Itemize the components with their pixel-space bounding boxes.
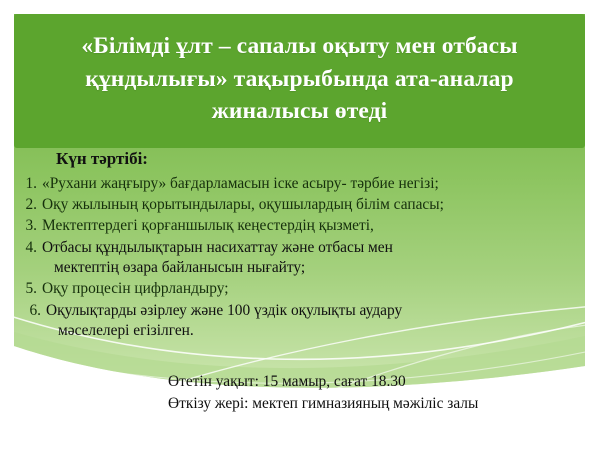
list-item: 4. Отбасы құндылықтарын насихаттау және … <box>20 238 575 279</box>
slide-canvas: «Білімді ұлт – сапалы оқыту мен отбасы қ… <box>0 0 600 450</box>
list-item-line2: мектептің өзара байланысын нығайту; <box>42 258 575 278</box>
list-item-text: «Рухани жаңғыру» бағдарламасын іске асыр… <box>42 174 575 194</box>
list-item: 5. Оқу процесін цифрландыру; <box>20 279 575 299</box>
list-item-line1: Оқулықтарды әзірлеу және 100 үздік оқулы… <box>46 302 402 319</box>
list-item-text: Отбасы құндылықтарын насихаттау және отб… <box>42 238 575 279</box>
list-item-text: Оқулықтарды әзірлеу және 100 үздік оқулы… <box>46 301 575 342</box>
page-title: «Білімді ұлт – сапалы оқыту мен отбасы қ… <box>34 30 565 127</box>
event-time: Өтетін уақыт: 15 мамыр, сағат 18.30 <box>168 371 478 393</box>
list-item-text: Оқу жылының қорытындылары, оқушылардың б… <box>42 195 575 215</box>
agenda-list: 1. «Рухани жаңғыру» бағдарламасын іске а… <box>20 174 575 342</box>
list-item: 2. Оқу жылының қорытындылары, оқушыларды… <box>20 195 575 215</box>
list-item-number: 5. <box>20 279 42 299</box>
agenda-heading: Күн тәртібі: <box>56 150 575 169</box>
list-item: 1. «Рухани жаңғыру» бағдарламасын іске а… <box>20 174 575 194</box>
list-item-line2: мәселелері егізілген. <box>46 321 575 341</box>
list-item-number: 1. <box>20 174 42 194</box>
list-item-line1: Отбасы құндылықтарын насихаттау және отб… <box>42 239 393 256</box>
event-place: Өткізу жері: мектеп гимназияның мәжіліс … <box>168 393 478 415</box>
list-item-number: 6. <box>20 301 46 321</box>
list-item: 3. Мектептердегі қорғаншылық кеңестердің… <box>20 216 575 236</box>
agenda-section: Күн тәртібі: 1. «Рухани жаңғыру» бағдарл… <box>14 150 585 342</box>
list-item-text: Мектептердегі қорғаншылық кеңестердің қы… <box>42 216 575 236</box>
list-item-number: 3. <box>20 216 42 236</box>
list-item-text: Оқу процесін цифрландыру; <box>42 279 575 299</box>
title-banner: «Білімді ұлт – сапалы оқыту мен отбасы қ… <box>14 14 585 148</box>
list-item-number: 2. <box>20 195 42 215</box>
event-details: Өтетін уақыт: 15 мамыр, сағат 18.30 Өткі… <box>168 371 478 416</box>
list-item-number: 4. <box>20 238 42 258</box>
list-item: 6. Оқулықтарды әзірлеу және 100 үздік оқ… <box>20 301 575 342</box>
